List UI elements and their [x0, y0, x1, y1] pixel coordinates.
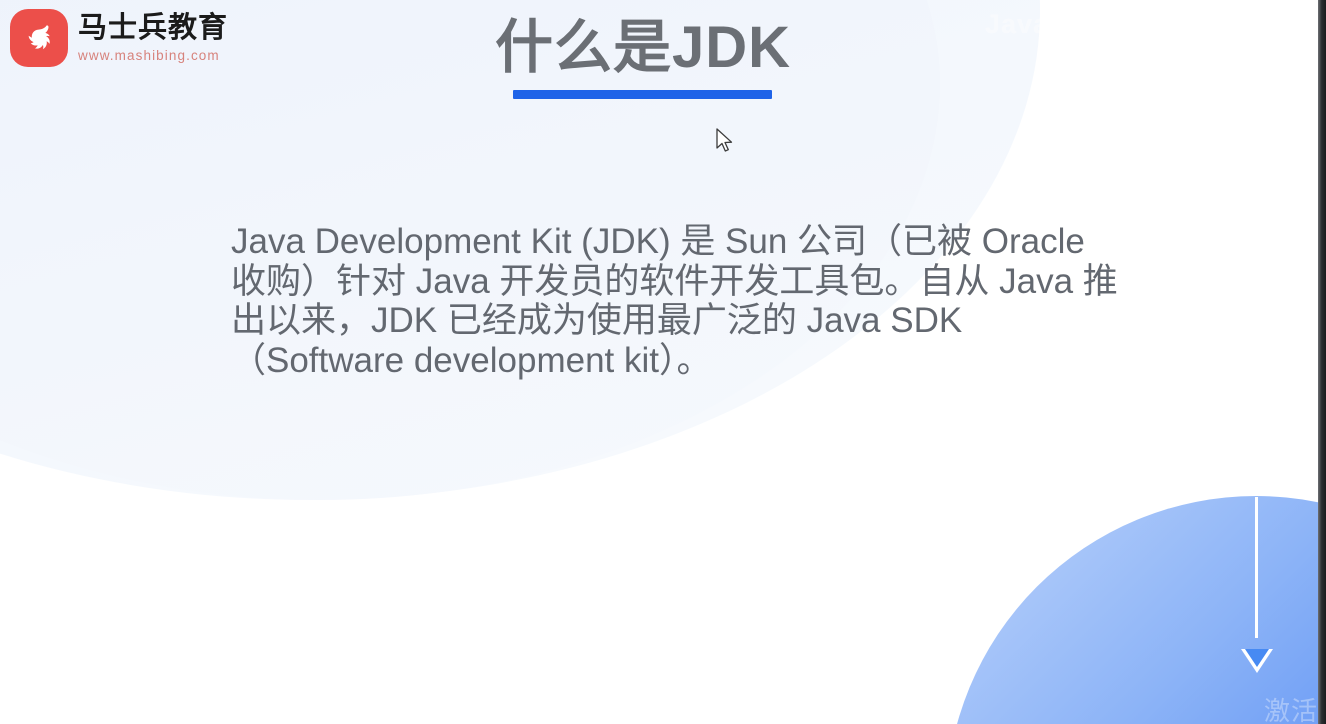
title-underline-rule: [513, 90, 772, 99]
window-right-edge: [1318, 0, 1326, 724]
slide-canvas: 马士兵教育 www.mashibing.com 什么是JDK Java Deve…: [0, 0, 1326, 724]
watermark-bottom-right: 激活: [1264, 691, 1318, 724]
down-arrow-icon: [1241, 649, 1273, 673]
slide-body-text: Java Development Kit (JDK) 是 Sun 公司（已被 O…: [231, 222, 1119, 380]
decorative-arrow-stem: [1255, 497, 1258, 638]
slide-title: 什么是JDK: [0, 16, 1286, 80]
decorative-blue-circle: [946, 496, 1326, 724]
mouse-cursor: [716, 128, 734, 154]
